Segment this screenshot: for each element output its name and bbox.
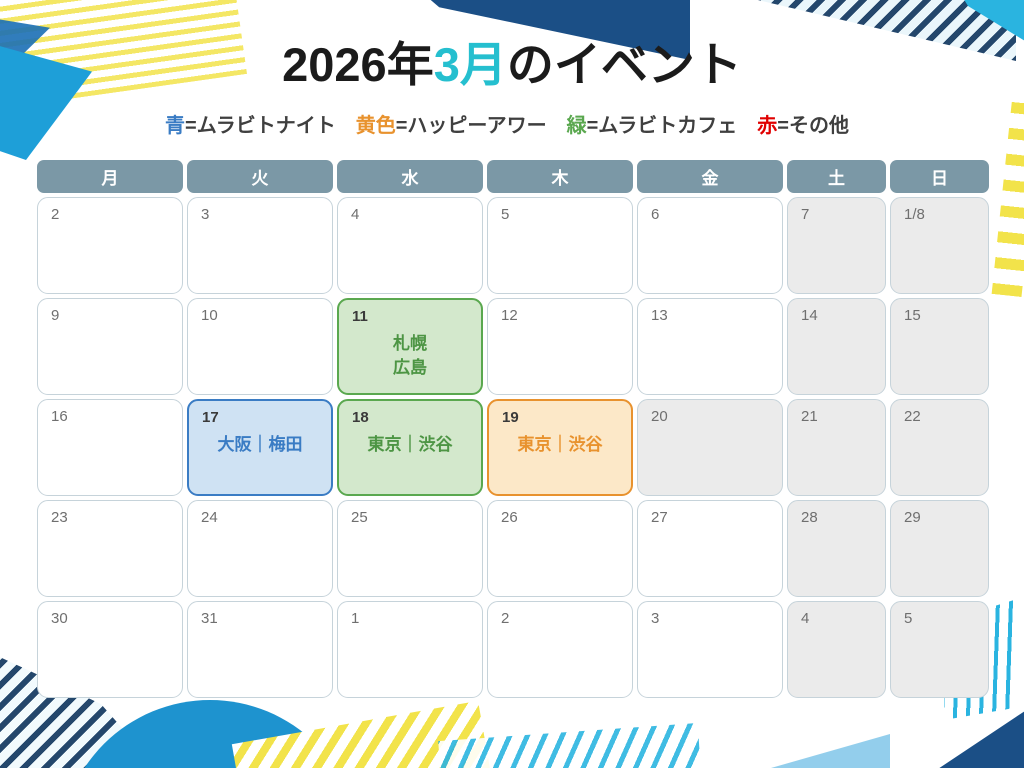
calendar-day-cell[interactable]: 11札幌広島 [337, 298, 483, 395]
weekday-header-水: 水 [337, 160, 483, 193]
day-event-label: 大阪｜梅田 [189, 433, 331, 456]
calendar-day-cell[interactable]: 5 [890, 601, 989, 698]
day-number: 9 [51, 308, 59, 323]
legend-key: 黄色 [356, 115, 396, 137]
day-number: 21 [801, 409, 818, 424]
calendar-day-cell[interactable]: 13 [637, 298, 783, 395]
calendar-day-cell[interactable]: 20 [637, 399, 783, 496]
day-number: 2 [51, 207, 59, 222]
legend-value: ムラビトナイト [197, 115, 336, 137]
day-number: 4 [801, 611, 809, 626]
day-number: 27 [651, 510, 668, 525]
day-number: 12 [501, 308, 518, 323]
day-number: 3 [651, 611, 659, 626]
calendar-day-cell[interactable]: 18東京｜渋谷 [337, 399, 483, 496]
calendar-day-cell[interactable]: 2 [487, 601, 633, 698]
title-month-accent: 3月 [434, 38, 507, 91]
day-number: 3 [201, 207, 209, 222]
calendar-day-cell[interactable]: 7 [787, 197, 886, 294]
calendar-day-cell[interactable]: 5 [487, 197, 633, 294]
calendar-day-cell[interactable]: 12 [487, 298, 633, 395]
day-number: 14 [801, 308, 818, 323]
day-number: 17 [202, 410, 219, 425]
calendar-day-cell[interactable]: 14 [787, 298, 886, 395]
calendar-day-cell[interactable]: 9 [37, 298, 183, 395]
calendar-day-cell[interactable]: 1 [337, 601, 483, 698]
day-number: 28 [801, 510, 818, 525]
day-number: 11 [352, 309, 368, 324]
day-number: 29 [904, 510, 921, 525]
calendar-week-row: 91011札幌広島12131415 [37, 298, 987, 395]
calendar-day-cell[interactable]: 2 [37, 197, 183, 294]
decor-bottom-right-lightblue [690, 724, 890, 768]
day-number: 23 [51, 510, 68, 525]
calendar-day-cell[interactable]: 31 [187, 601, 333, 698]
page-title: 2026年3月のイベント [0, 0, 1024, 92]
legend-separator: = [777, 115, 789, 137]
calendar-day-cell[interactable]: 6 [637, 197, 783, 294]
day-number: 7 [801, 207, 809, 222]
day-number: 13 [651, 308, 668, 323]
day-number: 31 [201, 611, 218, 626]
day-number: 24 [201, 510, 218, 525]
calendar-week-row: 23242526272829 [37, 500, 987, 597]
day-event-label: 札幌広島 [339, 332, 481, 379]
legend-item-3: 緑=ムラビトカフェ [567, 115, 738, 137]
decor-bottom-blue-blob [60, 700, 360, 768]
calendar-day-cell[interactable]: 19東京｜渋谷 [487, 399, 633, 496]
day-number: 4 [351, 207, 359, 222]
calendar-day-cell[interactable]: 17大阪｜梅田 [187, 399, 333, 496]
weekday-header-火: 火 [187, 160, 333, 193]
day-number: 15 [904, 308, 921, 323]
calendar-day-cell[interactable]: 10 [187, 298, 333, 395]
day-number: 5 [501, 207, 509, 222]
legend-value: ハッピーアワー [407, 115, 546, 137]
legend-item-1: 青=ムラビトナイト [165, 115, 336, 137]
calendar-day-cell[interactable]: 4 [787, 601, 886, 698]
decor-bottom-cyan-streaks [438, 723, 702, 768]
legend-separator: = [185, 115, 197, 137]
calendar-day-cell[interactable]: 23 [37, 500, 183, 597]
legend-value: ムラビトカフェ [598, 115, 737, 137]
legend-separator: = [587, 115, 599, 137]
legend-key: 赤 [757, 115, 777, 137]
calendar-day-cell[interactable]: 28 [787, 500, 886, 597]
weekday-header-土: 土 [787, 160, 886, 193]
calendar-day-cell[interactable]: 29 [890, 500, 989, 597]
title-suffix: のイベント [507, 38, 742, 91]
calendar-day-cell[interactable]: 16 [37, 399, 183, 496]
calendar-day-cell[interactable]: 3 [637, 601, 783, 698]
day-number: 22 [904, 409, 921, 424]
legend-item-2: 黄色=ハッピーアワー [356, 115, 547, 137]
calendar-day-cell[interactable]: 26 [487, 500, 633, 597]
title-year-month-prefix: 2026年 [282, 38, 434, 91]
weekday-header-金: 金 [637, 160, 783, 193]
calendar-week-row: 1617大阪｜梅田18東京｜渋谷19東京｜渋谷202122 [37, 399, 987, 496]
decor-bottom-yellow-stripes [232, 701, 490, 768]
day-number: 20 [651, 409, 668, 424]
calendar-day-cell[interactable]: 22 [890, 399, 989, 496]
weekday-header-月: 月 [37, 160, 183, 193]
legend-item-4: 赤=その他 [757, 115, 849, 137]
calendar-day-cell[interactable]: 30 [37, 601, 183, 698]
calendar-week-row: 2345671/8 [37, 197, 987, 294]
day-number: 2 [501, 611, 509, 626]
day-number: 19 [502, 410, 519, 425]
slide-canvas: 2026年3月のイベント 青=ムラビトナイト黄色=ハッピーアワー緑=ムラビトカフ… [0, 0, 1024, 768]
calendar-week-row: 303112345 [37, 601, 987, 698]
legend: 青=ムラビトナイト黄色=ハッピーアワー緑=ムラビトカフェ赤=その他 [0, 109, 1024, 138]
calendar-day-cell[interactable]: 3 [187, 197, 333, 294]
legend-key: 緑 [567, 115, 587, 137]
day-number: 1 [351, 611, 359, 626]
day-number: 10 [201, 308, 218, 323]
calendar-day-cell[interactable]: 1/8 [890, 197, 989, 294]
legend-value: その他 [789, 115, 849, 137]
calendar-day-cell[interactable]: 25 [337, 500, 483, 597]
calendar-grid: 月火水木金土日 2345671/891011札幌広島121314151617大阪… [37, 160, 987, 698]
weekday-header-木: 木 [487, 160, 633, 193]
weekday-header-日: 日 [890, 160, 989, 193]
day-number: 25 [351, 510, 368, 525]
day-number: 30 [51, 611, 68, 626]
calendar-weekday-header: 月火水木金土日 [37, 160, 987, 193]
day-number: 18 [352, 410, 369, 425]
calendar-day-cell[interactable]: 24 [187, 500, 333, 597]
day-event-label: 東京｜渋谷 [489, 433, 631, 456]
day-number: 1/8 [904, 207, 925, 222]
legend-separator: = [396, 115, 408, 137]
calendar-day-cell[interactable]: 21 [787, 399, 886, 496]
day-event-label: 東京｜渋谷 [339, 433, 481, 456]
calendar-day-cell[interactable]: 4 [337, 197, 483, 294]
day-number: 5 [904, 611, 912, 626]
legend-key: 青 [165, 115, 185, 137]
day-number: 26 [501, 510, 518, 525]
calendar-day-cell[interactable]: 27 [637, 500, 783, 597]
day-number: 16 [51, 409, 68, 424]
calendar-day-cell[interactable]: 15 [890, 298, 989, 395]
day-number: 6 [651, 207, 659, 222]
